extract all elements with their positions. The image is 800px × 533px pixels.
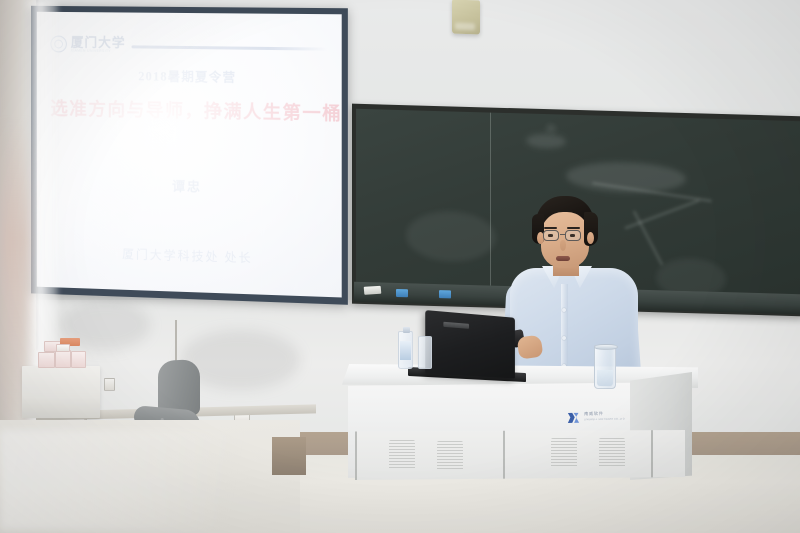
chalk-mark — [406, 210, 496, 263]
shirt-button — [562, 336, 566, 340]
linewell-logo-icon — [566, 410, 581, 425]
speaker-eyebrow — [544, 227, 557, 229]
laptop[interactable] — [425, 310, 515, 378]
lectern-front-panel — [355, 430, 685, 480]
slide-logo-row: 厦门大学 XIAMEN UNIVERSITY — [50, 36, 327, 57]
projection-screen: 厦门大学 XIAMEN UNIVERSITY 2018暑期夏令营 选准方向与导师… — [37, 12, 342, 298]
shirt-button — [562, 308, 566, 312]
cabinet-vent — [599, 438, 625, 468]
wall-outlet[interactable] — [104, 378, 115, 391]
speaker-eye — [570, 234, 575, 237]
projection-screen-frame: 厦门大学 XIAMEN UNIVERSITY 2018暑期夏令营 选准方向与导师… — [31, 6, 348, 305]
slide-presenter-name: 谭忠 — [50, 172, 327, 198]
podium-brand-text-block: 南威软件 LINEWELL SOFTWARE CO.,LTD — [584, 412, 625, 422]
storage-box — [56, 344, 70, 352]
wall-mounted-speaker-icon — [452, 0, 480, 34]
storage-box — [55, 350, 71, 368]
water-bottle[interactable] — [398, 331, 413, 369]
chalk-mark — [526, 134, 566, 149]
second-water-bottle[interactable] — [418, 336, 432, 369]
storage-box — [71, 351, 86, 368]
chalk-mark — [546, 124, 556, 132]
chalk-mark — [656, 257, 726, 294]
cabinet-vent — [437, 441, 463, 471]
podium-brand-en: LINEWELL SOFTWARE CO.,LTD — [584, 418, 625, 421]
speaker-eye — [548, 234, 553, 237]
podium-brand-logo: 南威软件 LINEWELL SOFTWARE CO.,LTD — [566, 403, 628, 430]
bottle-label — [400, 341, 411, 360]
eyeglasses-bridge — [560, 234, 565, 235]
cabinet-door-seam — [651, 430, 653, 480]
bottle-cap — [403, 327, 410, 333]
water-glass[interactable] — [594, 345, 616, 389]
university-logo-subtext: XIAMEN UNIVERSITY — [71, 50, 126, 54]
slide-presenter-affiliation: 厦门大学科技处 处长 — [50, 242, 327, 268]
university-logo-block: 厦门大学 XIAMEN UNIVERSITY — [71, 36, 126, 54]
white-cabinet — [22, 366, 100, 418]
slide-title: 选准方向与导师，挣满人生第一桶金 — [50, 94, 327, 125]
cabinet-vent — [389, 440, 415, 470]
speaker-nose — [560, 240, 566, 251]
slide-header-rule — [132, 45, 328, 50]
slide-subtitle: 2018暑期夏令营 — [50, 64, 327, 87]
stage-gap-shadow — [272, 437, 306, 475]
storage-box — [38, 352, 55, 368]
glass-rim — [594, 344, 618, 350]
speaker-eyebrow — [567, 227, 580, 229]
presentation-slide: 厦门大学 XIAMEN UNIVERSITY 2018暑期夏令营 选准方向与导师… — [37, 12, 342, 298]
university-logo-text: 厦门大学 — [71, 36, 126, 50]
chalk-box[interactable] — [439, 290, 451, 298]
cabinet-door-seam — [355, 430, 357, 480]
lecture-hall-photo: 厦门大学 XIAMEN UNIVERSITY 2018暑期夏令营 选准方向与导师… — [0, 0, 800, 533]
cabinet-vent — [551, 438, 577, 468]
blackboard-eraser[interactable] — [364, 286, 382, 295]
blackboard-panel-divider — [490, 113, 492, 286]
cabinet-door-seam — [503, 430, 505, 480]
glass-water — [597, 370, 613, 386]
speaker-mouth — [556, 256, 570, 261]
speaker-ear — [587, 232, 594, 244]
laptop-badge — [443, 322, 469, 329]
chalk-box[interactable] — [396, 289, 408, 297]
